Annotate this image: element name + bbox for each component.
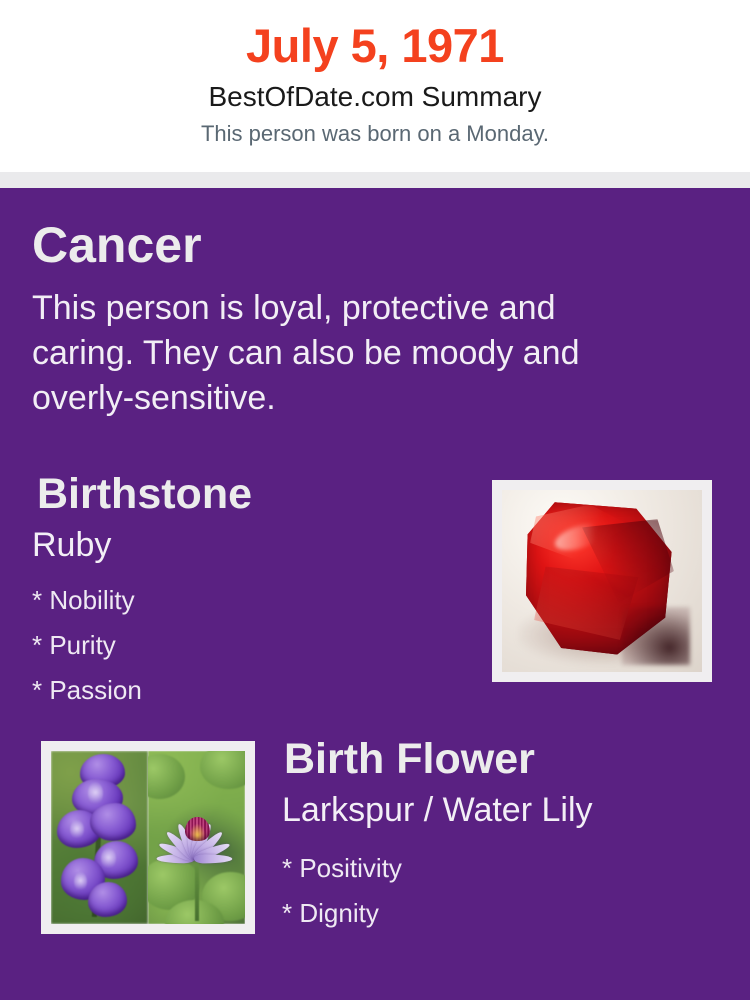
larkspur-petal-highlight — [88, 782, 104, 804]
list-item: * Passion — [32, 668, 142, 713]
page-title-date: July 5, 1971 — [0, 22, 750, 69]
larkspur-bloom — [88, 882, 127, 917]
larkspur-petal-highlight — [74, 872, 87, 891]
flower-photo-pair — [51, 751, 245, 924]
larkspur-bloom — [90, 803, 137, 841]
birth-flower-trait-list: * Positivity * Dignity — [282, 846, 402, 936]
list-item: * Nobility — [32, 578, 142, 623]
larkspur-petal-highlight — [101, 848, 116, 869]
birth-day-note: This person was born on a Monday. — [0, 123, 750, 145]
birthstone-image — [492, 480, 712, 682]
site-summary-label: BestOfDate.com Summary — [0, 83, 750, 111]
details-panel: Cancer This person is loyal, protective … — [0, 188, 750, 1000]
water-lily-bloom — [164, 789, 232, 862]
birthstone-name: Ruby — [32, 528, 111, 562]
lily-stamen-center — [185, 817, 209, 842]
list-item: * Purity — [32, 623, 142, 668]
ruby-photo-scene — [502, 490, 702, 672]
zodiac-sign-title: Cancer — [32, 220, 202, 270]
birth-flower-image — [41, 741, 255, 934]
header: July 5, 1971 BestOfDate.com Summary This… — [0, 0, 750, 172]
birth-flower-heading: Birth Flower — [284, 738, 535, 781]
birthstone-trait-list: * Nobility * Purity * Passion — [32, 578, 142, 713]
zodiac-description: This person is loyal, protective and car… — [32, 286, 652, 421]
birthstone-image-inner — [502, 490, 702, 672]
header-divider — [0, 172, 750, 188]
ruby-dark-inclusion — [622, 607, 690, 665]
water-lily-photo — [148, 751, 245, 924]
list-item: * Dignity — [282, 891, 402, 936]
birthstone-heading: Birthstone — [37, 473, 252, 516]
summary-card: July 5, 1971 BestOfDate.com Summary This… — [0, 0, 750, 1000]
list-item: * Positivity — [282, 846, 402, 891]
birth-flower-name: Larkspur / Water Lily — [282, 793, 593, 827]
larkspur-photo — [51, 751, 148, 924]
birth-flower-image-inner — [51, 751, 245, 924]
